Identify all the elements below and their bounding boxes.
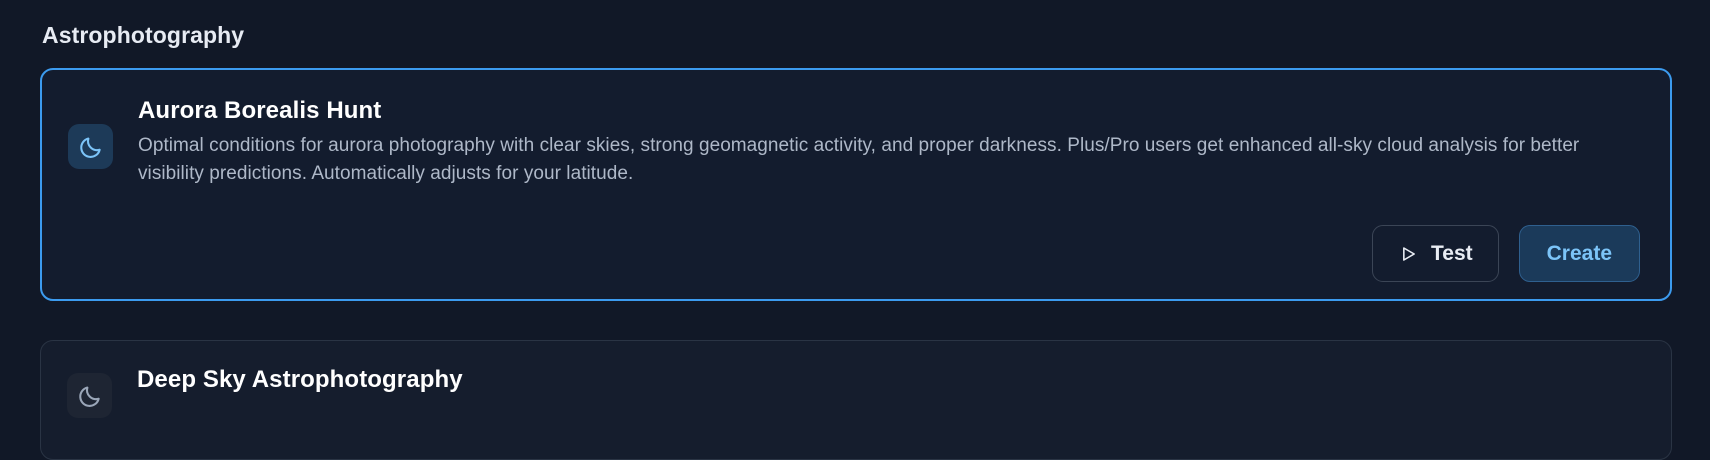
astrophotography-panel: Astrophotography Aurora Borealis Hunt Op… <box>0 0 1710 414</box>
card-title: Deep Sky Astrophotography <box>137 365 1641 395</box>
create-button[interactable]: Create <box>1519 225 1640 282</box>
alert-card-aurora-borealis-hunt[interactable]: Aurora Borealis Hunt Optimal conditions … <box>40 68 1672 301</box>
card-actions: Test Create <box>1372 225 1640 282</box>
test-button-label: Test <box>1431 242 1473 266</box>
crescent-moon-icon <box>67 373 112 418</box>
card-title: Aurora Borealis Hunt <box>138 96 1640 126</box>
section-heading: Astrophotography <box>42 22 244 49</box>
play-triangle-icon <box>1398 244 1418 264</box>
test-button[interactable]: Test <box>1372 225 1499 282</box>
create-button-label: Create <box>1547 242 1612 266</box>
card-description: Optimal conditions for aurora photograph… <box>138 132 1640 188</box>
card-inner: Deep Sky Astrophotography <box>41 341 1671 459</box>
card-content: Aurora Borealis Hunt Optimal conditions … <box>138 96 1640 188</box>
card-inner: Aurora Borealis Hunt Optimal conditions … <box>42 70 1670 299</box>
alert-card-deep-sky-astrophotography[interactable]: Deep Sky Astrophotography <box>40 340 1672 460</box>
crescent-moon-icon <box>68 124 113 169</box>
card-content: Deep Sky Astrophotography <box>137 365 1641 401</box>
